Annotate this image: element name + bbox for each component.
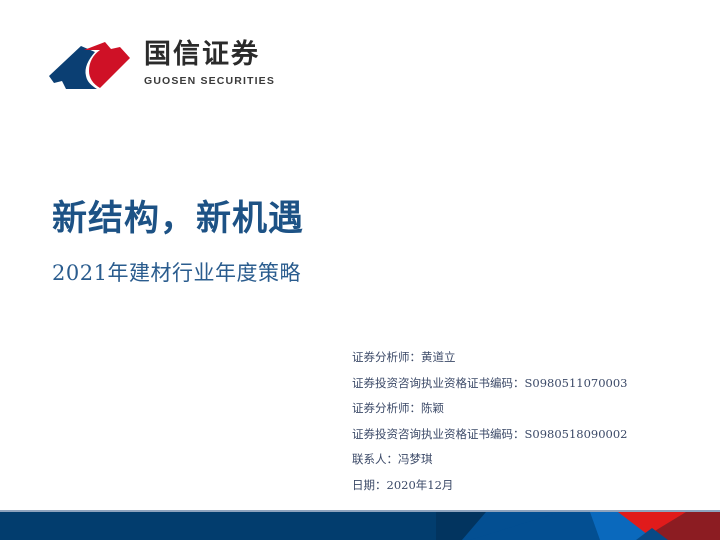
- logo-wordmark: 国信证券 GUOSEN SECURITIES: [144, 38, 294, 88]
- analyst-line: 证券分析师：黄道立: [352, 345, 692, 371]
- page-title: 新结构，新机遇: [52, 196, 612, 242]
- analyst-line: 证券分析师：陈颖: [352, 396, 692, 422]
- company-logo: 国信证券 GUOSEN SECURITIES: [48, 38, 288, 100]
- footer-decorative-bar: [0, 512, 720, 540]
- title-block: 新结构，新机遇 2021年建材行业年度策略: [52, 196, 612, 288]
- logo-name-cn: 国信证券: [144, 38, 294, 72]
- analyst-line: 证券投资咨询执业资格证书编码：S0980518090002: [352, 422, 692, 448]
- analyst-line: 日期：2020年12月: [352, 473, 692, 499]
- logo-name-en: GUOSEN SECURITIES: [144, 74, 294, 88]
- page-subtitle: 2021年建材行业年度策略: [52, 258, 612, 288]
- analyst-line: 证券投资咨询执业资格证书编码：S0980511070003: [352, 371, 692, 397]
- analyst-info-block: 证券分析师：黄道立 证券投资咨询执业资格证书编码：S0980511070003 …: [352, 345, 692, 498]
- analyst-line: 联系人：冯梦琪: [352, 447, 692, 473]
- slide-cover: 国信证券 GUOSEN SECURITIES 新结构，新机遇 2021年建材行业…: [0, 0, 720, 540]
- guosen-logo-mark-icon: [48, 40, 132, 96]
